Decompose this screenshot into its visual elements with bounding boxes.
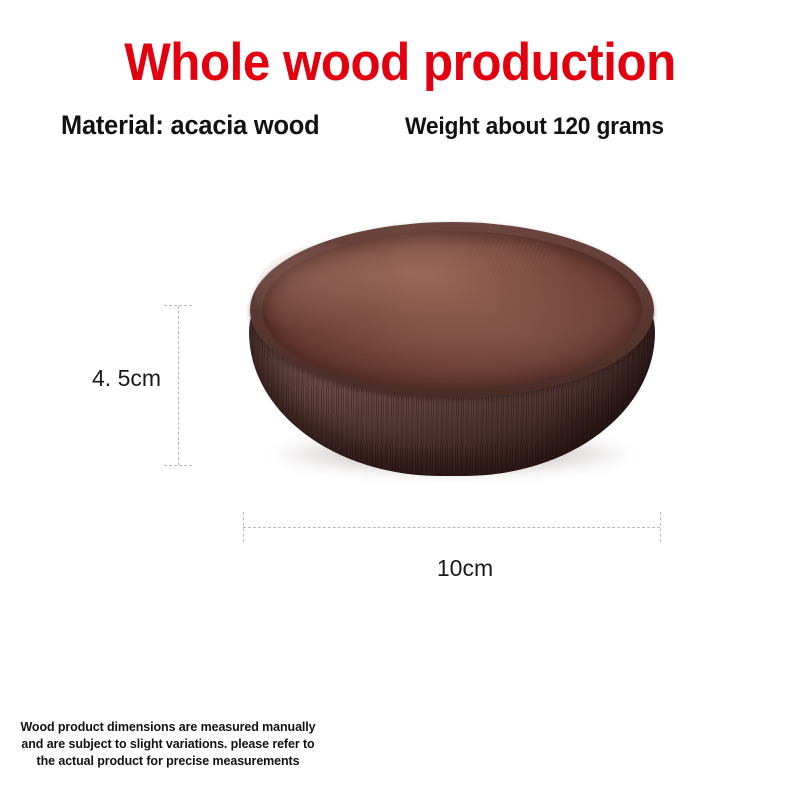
spec-weight-label: Weight about 120 grams — [405, 112, 664, 142]
product-image-acacia-bowl — [243, 222, 661, 484]
disclaimer-line-1: Wood product dimensions are measured man… — [14, 718, 321, 735]
width-dimension-cap-right — [660, 512, 661, 542]
page-title: Whole wood production — [28, 34, 772, 92]
height-dimension-line — [178, 306, 179, 465]
bowl-rim-highlight — [255, 244, 405, 340]
width-dimension-line — [243, 527, 660, 528]
height-dimension-cap-bottom — [164, 465, 192, 466]
spec-material-label: Material: acacia wood — [61, 109, 319, 141]
disclaimer-line-3: the actual product for precise measureme… — [14, 752, 321, 769]
product-infographic: Whole wood production Material: acacia w… — [0, 0, 800, 800]
height-dimension-label: 4. 5cm — [92, 365, 161, 391]
width-dimension-label: 10cm — [0, 555, 800, 581]
width-dimension-value: 10cm — [437, 555, 493, 581]
disclaimer-line-2: and are subject to slight variations. pl… — [14, 735, 321, 752]
disclaimer-note: Wood product dimensions are measured man… — [14, 718, 321, 769]
